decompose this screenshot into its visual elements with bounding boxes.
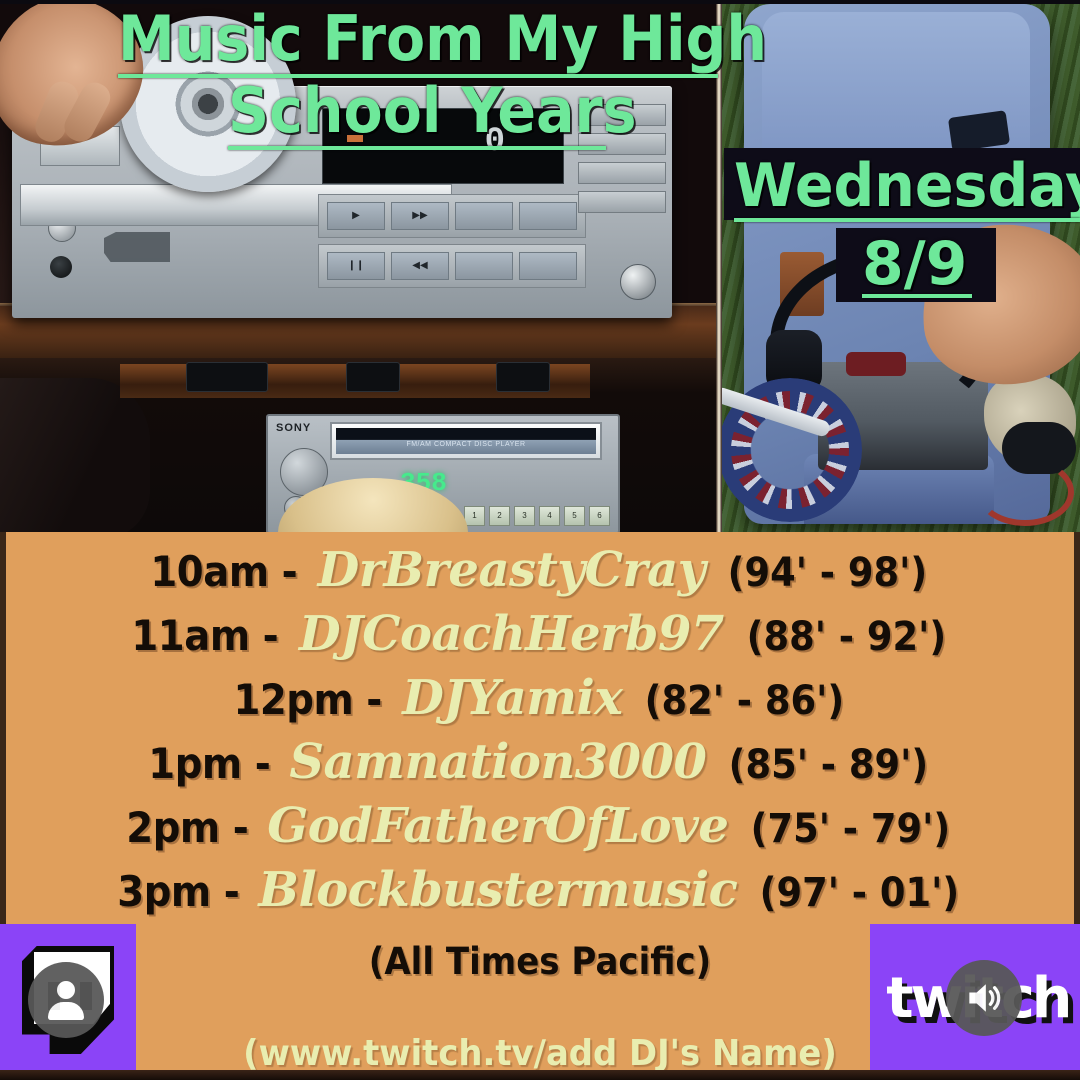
slot-year-range: (85' - 89') [729, 742, 928, 788]
slot-time: 12pm - [233, 675, 381, 724]
poster-title-line-1: Music From My High [118, 8, 767, 70]
person-icon-overlay[interactable] [28, 962, 104, 1038]
schedule-row: 10am - DrBreastyCray (94' - 98') [0, 542, 1080, 606]
flyer-poster: SONY 0 ▶ ▶▶ [0, 0, 1080, 1080]
deck-next-button: ▶▶ [391, 202, 449, 230]
deck-side-button-3 [578, 162, 666, 184]
slot-year-range: (82' - 86') [645, 678, 844, 724]
car-deck-slot-label: FM/AM COMPACT DISC PLAYER [336, 441, 596, 448]
date-underline-1 [734, 218, 1080, 222]
deck-rotary-dial [620, 264, 656, 300]
preset-1: 1 [464, 506, 485, 526]
schedule-row: 12pm - DJYamix (82' - 86') [0, 670, 1080, 734]
person-icon-head [57, 981, 75, 999]
red-cable [976, 458, 1074, 526]
speaker-icon [962, 976, 1006, 1020]
car-deck-disc-slot: FM/AM COMPACT DISC PLAYER [330, 422, 602, 460]
slot-year-range: (94' - 98') [728, 550, 927, 596]
top-edge-strip [0, 0, 1080, 4]
deck-button-a [455, 202, 513, 230]
slot-dj-name[interactable]: DrBreastyCray [318, 542, 705, 598]
headphone-accent [846, 352, 906, 376]
slot-time: 1pm - [148, 739, 270, 788]
dash-switch-rear [496, 362, 550, 392]
slot-year-range: (97' - 01') [760, 870, 959, 916]
slot-time: 3pm - [117, 867, 239, 916]
deck-prev-button: ◀◀ [391, 252, 449, 280]
deck-side-button-4 [578, 191, 666, 213]
car-deck-slot-interior: FM/AM COMPACT DISC PLAYER [336, 428, 596, 454]
deck-headphone-jack [50, 256, 72, 278]
schedule-row: 2pm - GodFatherOfLove (75' - 79') [0, 798, 1080, 862]
deck-play-button: ▶ [327, 202, 385, 230]
preset-5: 5 [564, 506, 585, 526]
slot-time: 2pm - [126, 803, 248, 852]
slot-year-range: (75' - 79') [751, 806, 950, 852]
deck-button-b [519, 202, 577, 230]
deck-button-d [519, 252, 577, 280]
photo-divider [716, 0, 722, 532]
poster-title-line-2: School Years [228, 80, 637, 142]
preset-3: 3 [514, 506, 535, 526]
person-icon-body [48, 1002, 84, 1020]
slot-dj-name[interactable]: Samnation3000 [289, 734, 706, 790]
slot-dj-name[interactable]: Blockbustermusic [258, 862, 737, 918]
schedule-row: 3pm - Blockbustermusic (97' - 01') [0, 862, 1080, 926]
title-underline-2 [228, 146, 606, 150]
car-deck-brand-label: SONY [276, 422, 311, 434]
schedule-list: 10am - DrBreastyCray (94' - 98') 11am - … [0, 532, 1080, 926]
event-date-label: 8/9 [862, 234, 967, 294]
schedule-row: 11am - DJCoachHerb97 (88' - 92') [0, 606, 1080, 670]
slot-time: 11am - [132, 611, 279, 660]
dash-switch-lights [346, 362, 400, 392]
deck-transport-row-1: ▶ ▶▶ [318, 194, 586, 238]
schedule-row: 1pm - Samnation3000 (85' - 89') [0, 734, 1080, 798]
person-icon [45, 979, 87, 1021]
deck-pause-button: ❙❙ [327, 252, 385, 280]
slot-dj-name[interactable]: DJCoachHerb97 [299, 606, 724, 662]
dash-switch-antenna [186, 362, 268, 392]
event-day-label: Wednesday [734, 156, 1080, 216]
deck-transport-row-2: ❙❙ ◀◀ [318, 244, 586, 288]
preset-6: 6 [589, 506, 610, 526]
slot-year-range: (88' - 92') [746, 614, 945, 660]
preset-4: 4 [539, 506, 560, 526]
date-underline-2 [862, 294, 972, 298]
compact-disc-logo-icon [104, 232, 170, 262]
car-stereo-photo: SONY FM/AM COMPACT DISC PLAYER 358 1 2 3 [0, 358, 718, 532]
speaker-icon-overlay[interactable] [946, 960, 1022, 1036]
slot-dj-name[interactable]: GodFatherOfLove [267, 798, 728, 854]
bottom-edge-strip [0, 1070, 1080, 1080]
car-deck-preset-buttons: 1 2 3 4 5 6 [464, 506, 610, 526]
deck-button-c [455, 252, 513, 280]
slot-dj-name[interactable]: DJYamix [402, 670, 622, 726]
preset-2: 2 [489, 506, 510, 526]
slot-time: 10am - [150, 547, 297, 596]
car-seat [0, 378, 150, 532]
